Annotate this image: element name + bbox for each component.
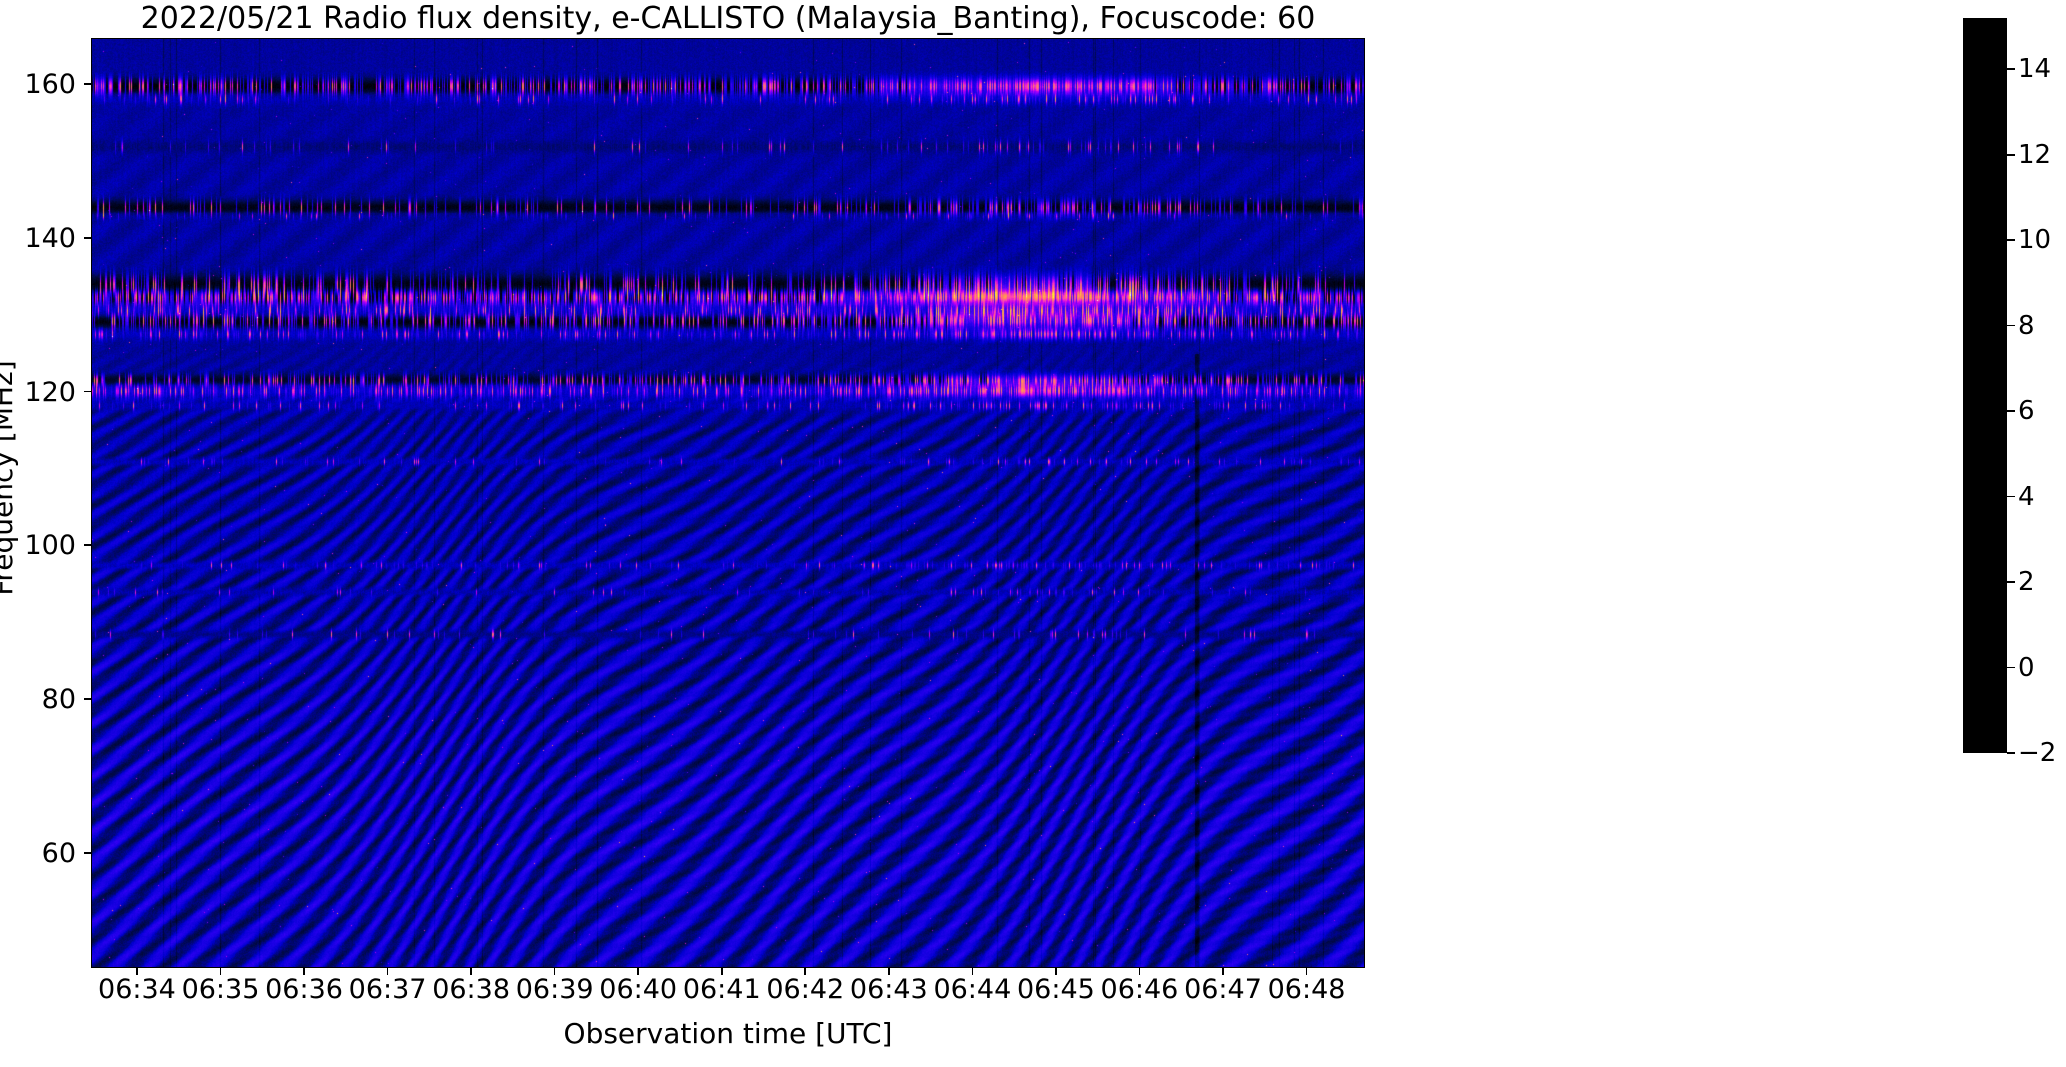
colorbar-tick-mark (2007, 752, 2015, 754)
x-axis-label: Observation time [UTC] (91, 1019, 1365, 1049)
colorbar-tick-label: 14 (2018, 56, 2066, 82)
y-tick-mark (84, 391, 91, 393)
colorbar-tick-label: 6 (2018, 398, 2066, 424)
y-tick-label: 80 (0, 686, 76, 713)
colorbar-tick-label: 10 (2018, 227, 2066, 253)
colorbar-tick-mark (2007, 496, 2015, 498)
y-tick-label: 120 (0, 379, 76, 406)
colorbar-tick-mark (2007, 410, 2015, 412)
x-tick-label: 06:48 (1217, 976, 1397, 1003)
colorbar-tick-label: 8 (2018, 313, 2066, 339)
y-tick-mark (84, 852, 91, 854)
colorbar-tick-mark (2007, 68, 2015, 70)
colorbar-tick-label: 2 (2018, 569, 2066, 595)
y-tick-mark (84, 698, 91, 700)
colorbar-gradient (1964, 19, 2006, 752)
colorbar-tick-mark (2007, 667, 2015, 669)
colorbar-tick-label: −2 (2018, 740, 2066, 766)
y-tick-label: 60 (0, 840, 76, 867)
figure-canvas: 2022/05/21 Radio flux density, e-CALLIST… (0, 0, 2066, 1067)
page-title: 2022/05/21 Radio flux density, e-CALLIST… (91, 2, 1365, 36)
colorbar-tick-label: 12 (2018, 142, 2066, 168)
y-tick-label: 100 (0, 532, 76, 559)
y-tick-label: 160 (0, 71, 76, 98)
y-tick-label: 140 (0, 225, 76, 252)
colorbar-tick-mark (2007, 239, 2015, 241)
y-tick-mark (84, 544, 91, 546)
y-tick-mark (84, 83, 91, 85)
colorbar[interactable] (1963, 18, 2007, 753)
colorbar-tick-mark (2007, 325, 2015, 327)
spectrogram-image[interactable] (92, 39, 1365, 968)
spectrogram-axes[interactable] (91, 38, 1365, 968)
colorbar-tick-mark (2007, 581, 2015, 583)
y-axis-label: Frequency [MHz] (0, 13, 18, 943)
colorbar-tick-mark (2007, 154, 2015, 156)
colorbar-tick-label: 4 (2018, 484, 2066, 510)
y-tick-mark (84, 237, 91, 239)
colorbar-tick-label: 0 (2018, 655, 2066, 681)
